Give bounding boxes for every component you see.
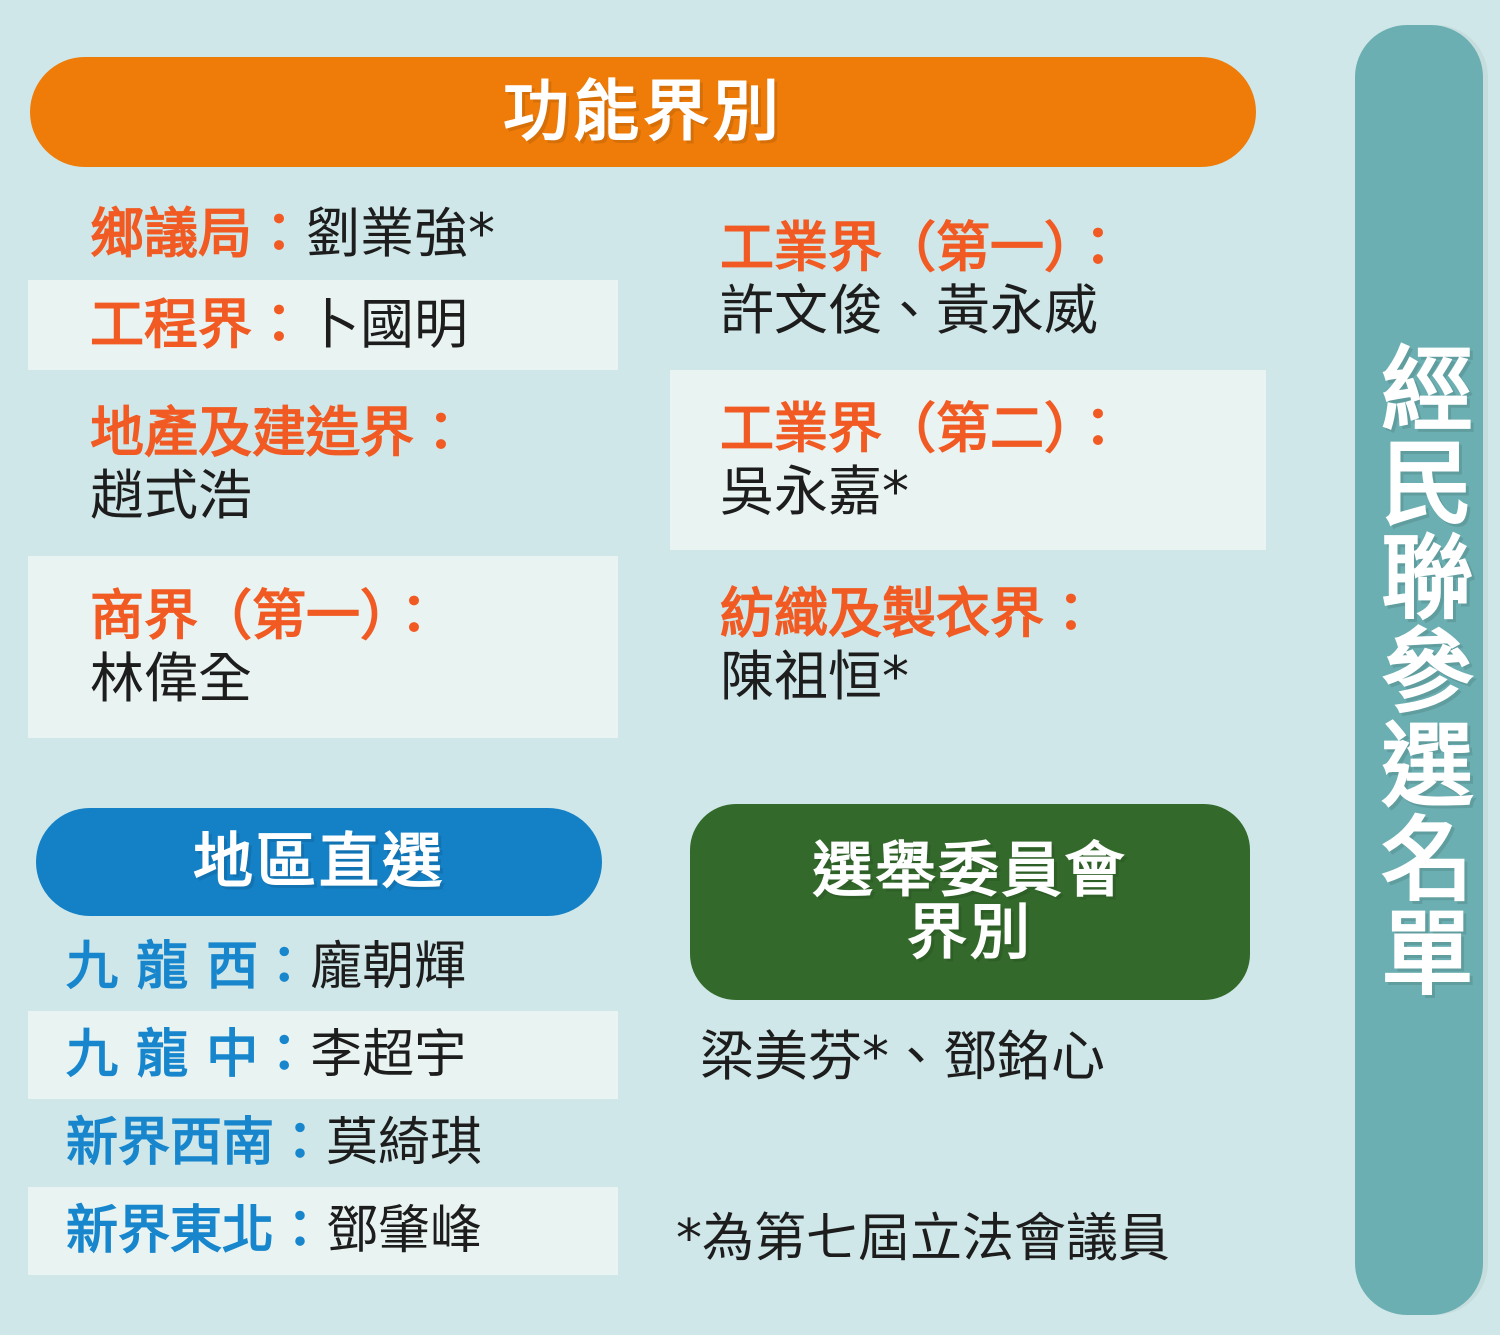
candidate-names: 陳祖恒* — [720, 645, 1266, 708]
page-title: 經民聯參選名單 — [1355, 25, 1483, 1315]
list-item: 地產及建造界： 趙式浩 — [28, 374, 618, 554]
constituency-label: 工程界： — [90, 293, 306, 356]
candidate-names: 趙式浩 — [90, 464, 618, 527]
footnote: *為第七屆立法會議員 — [676, 1196, 1296, 1271]
constituency-label: 鄉議局： — [90, 202, 306, 265]
list-item: 工業界（第二）： 吳永嘉* — [670, 370, 1266, 550]
candidate-names: 吳永嘉* — [720, 460, 1266, 523]
list-item: 商界（第一）： 林偉全 — [28, 556, 618, 738]
list-item: 九 龍 西： 龐朝輝 — [28, 923, 618, 1011]
district-label: 九 龍 西： — [66, 937, 310, 998]
election-committee-candidate-names: 梁美芬*、鄧銘心 — [700, 1012, 1300, 1091]
list-item: 工程界： 卜國明 — [28, 280, 618, 370]
list-item: 新界東北： 鄧肇峰 — [28, 1187, 618, 1275]
election-committee-section-header: 選舉委員會 界別 — [690, 804, 1250, 1000]
election-committee-header-line2: 界別 — [907, 902, 1033, 964]
constituency-label: 工業界（第二）： — [720, 397, 1266, 460]
candidate-names: 鄧肇峰 — [326, 1201, 482, 1262]
constituency-label: 地產及建造界： — [90, 401, 618, 464]
district-label: 新界東北： — [66, 1201, 326, 1262]
list-item: 工業界（第一）： 許文俊、黃永威 — [670, 190, 1266, 368]
candidate-names: 許文俊、黃永威 — [720, 279, 1266, 342]
candidate-names: 林偉全 — [90, 647, 618, 710]
list-item: 九 龍 中： 李超宇 — [28, 1011, 618, 1099]
list-item: 新界西南： 莫綺琪 — [28, 1099, 618, 1187]
candidate-names: 劉業強* — [306, 202, 495, 265]
candidate-names: 卜國明 — [306, 293, 468, 356]
infographic-root: 功能界別 鄉議局： 劉業強* 工程界： 卜國明 地產及建造界： 趙式浩 商界（第… — [0, 0, 1500, 1335]
district-label: 新界西南： — [66, 1113, 326, 1174]
candidate-names: 李超宇 — [310, 1025, 466, 1086]
constituency-label: 工業界（第一）： — [720, 216, 1266, 279]
candidate-names: 龐朝輝 — [310, 937, 466, 998]
candidate-names: 莫綺琪 — [326, 1113, 482, 1174]
geographical-section-header: 地區直選 — [36, 808, 602, 916]
functional-section-header: 功能界別 — [30, 57, 1256, 167]
election-committee-header-line1: 選舉委員會 — [813, 840, 1128, 902]
constituency-label: 紡織及製衣界： — [720, 582, 1266, 645]
list-item: 紡織及製衣界： 陳祖恒* — [670, 554, 1266, 736]
constituency-label: 商界（第一）： — [90, 584, 618, 647]
district-label: 九 龍 中： — [66, 1025, 310, 1086]
list-item: 鄉議局： 劉業強* — [28, 190, 618, 278]
side-title-panel: 經民聯參選名單 — [1355, 25, 1483, 1315]
